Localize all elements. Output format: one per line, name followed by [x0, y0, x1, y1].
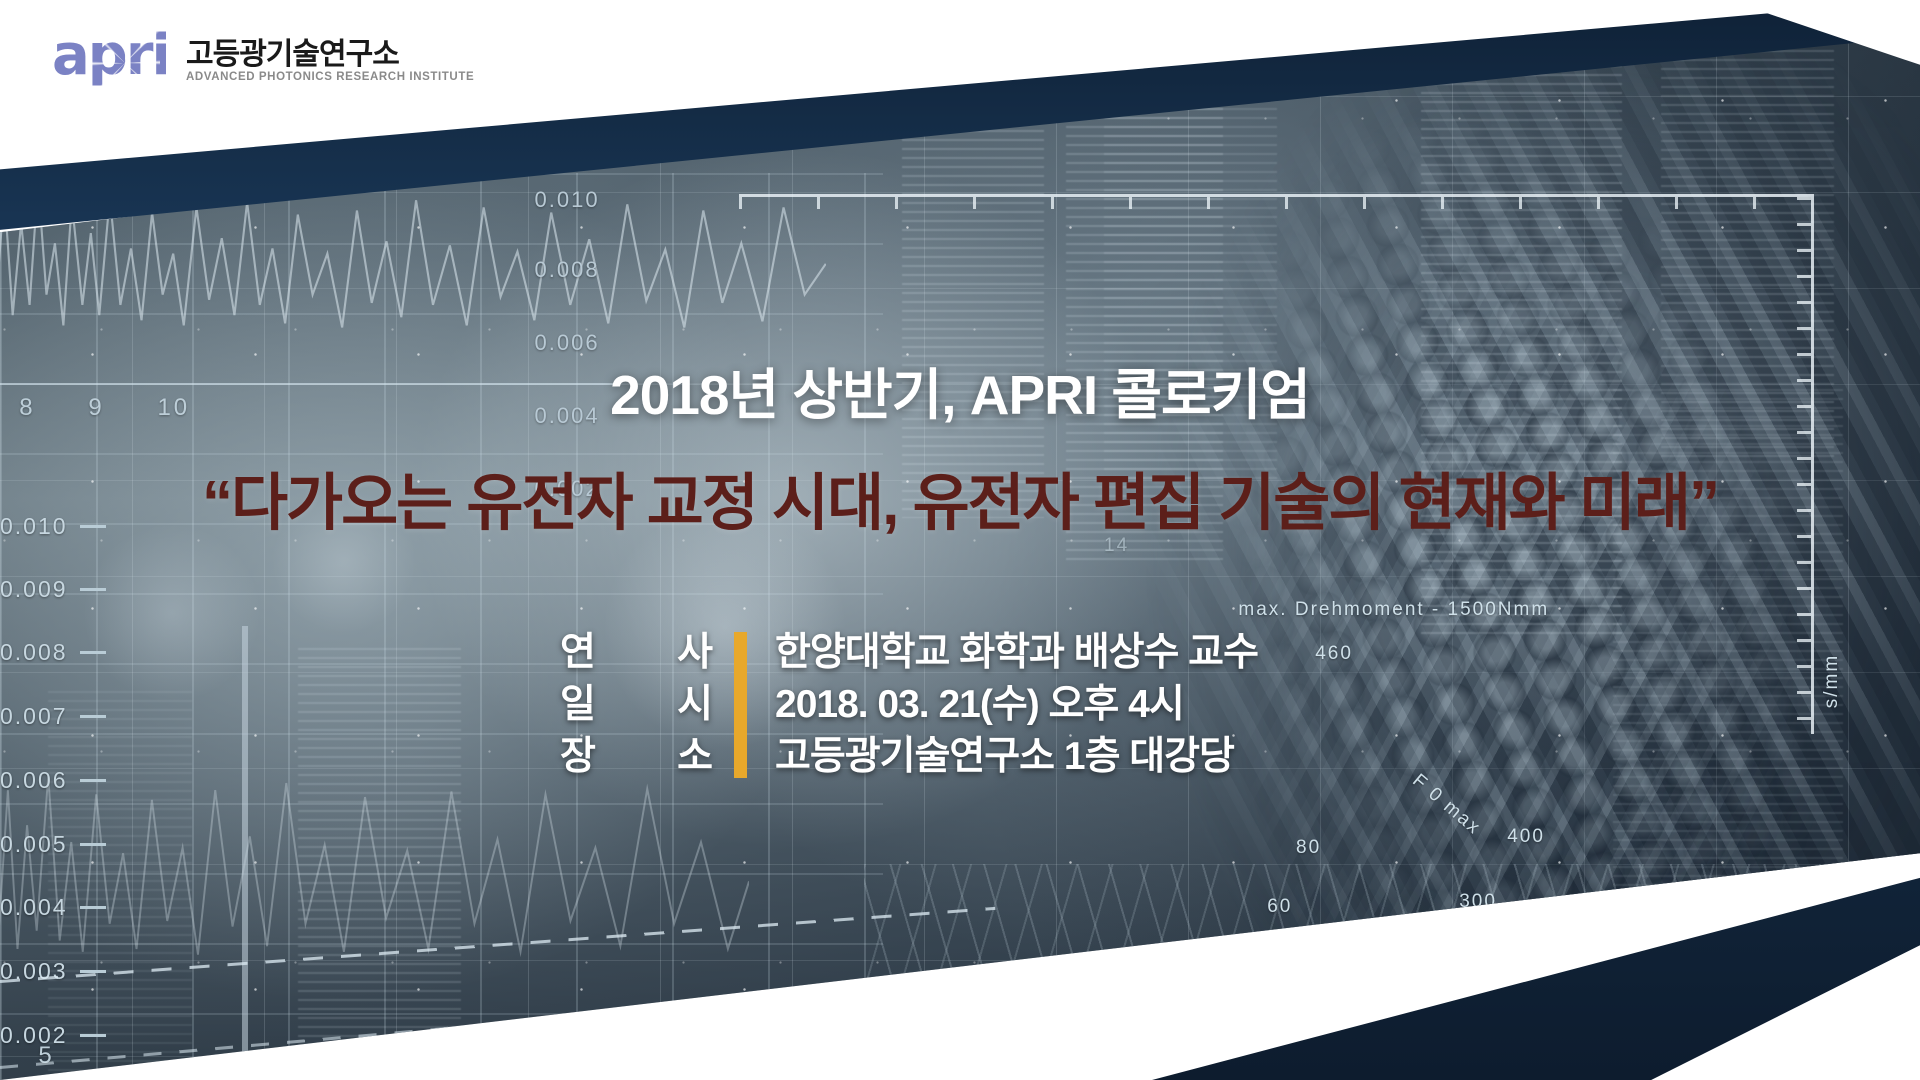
institute-name-english: ADVANCED PHOTONICS RESEARCH INSTITUTE [186, 72, 474, 84]
event-detail-values: 한양대학교 화학과 배상수 교수 2018. 03. 21(수) 오후 4시 고… [747, 632, 1258, 778]
apri-logo: apri 고등광기술연구소 ADVANCED PHOTONICS RESEARC… [52, 28, 474, 86]
detail-label-speaker: 연사 [560, 632, 712, 674]
institute-name-korean: 고등광기술연구소 [186, 40, 474, 70]
apri-wordmark: apri [52, 28, 172, 84]
apri-logo-text: 고등광기술연구소 ADVANCED PHOTONICS RESEARCH INS… [186, 40, 474, 87]
detail-label-venue: 장소 [560, 736, 712, 778]
detail-divider [734, 632, 747, 778]
poster-content: 2018년 상반기, APRI 콜로키엄 “다가오는 유전자 교정 시대, 유전… [0, 0, 1920, 1080]
colloquium-poster: 0.010 0.009 0.008 0.007 0.006 0.005 [0, 0, 1920, 1080]
event-details: 연사 일시 장소 한양대학교 화학과 배상수 교수 2018. 03. 21(수… [560, 632, 1258, 778]
detail-value-datetime: 2018. 03. 21(수) 오후 4시 [775, 684, 1258, 726]
apri-logo-mark: apri [52, 28, 172, 86]
page-subtitle: “다가오는 유전자 교정 시대, 유전자 편집 기술의 현재와 미래” [0, 452, 1920, 542]
detail-label-datetime: 일시 [560, 684, 712, 726]
page-title: 2018년 상반기, APRI 콜로키엄 [0, 350, 1920, 430]
detail-value-speaker: 한양대학교 화학과 배상수 교수 [775, 632, 1258, 674]
detail-value-venue: 고등광기술연구소 1층 대강당 [775, 736, 1258, 778]
event-detail-labels: 연사 일시 장소 [560, 632, 734, 778]
